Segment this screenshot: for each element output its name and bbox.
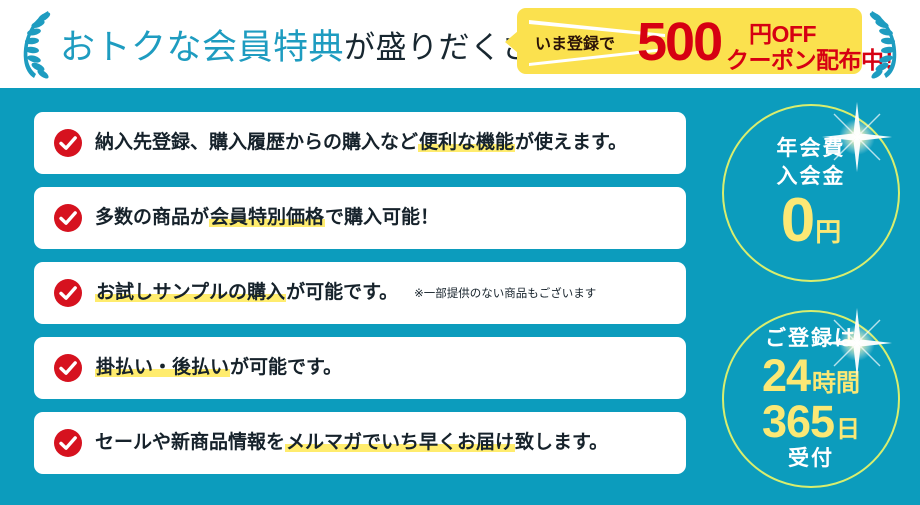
feature-text-2: 多数の商品が会員特別価格で購入可能！: [95, 205, 439, 231]
coupon-register-label: いま登録で: [535, 30, 615, 54]
check-circle-icon: [53, 353, 83, 383]
feature-text-1: 納入先登録、購入履歴からの購入など便利な機能が使えます。: [95, 130, 627, 156]
badge-availability: ご登録は 24 時間 365 日 受付: [722, 310, 900, 488]
feature-card-5[interactable]: セールや新商品情報をメルマガでいち早くお届け致します。: [34, 412, 686, 474]
check-circle-icon: [53, 128, 83, 158]
badge2-row-hours: 24 時間: [762, 353, 860, 399]
laurel-right-icon: [858, 8, 906, 80]
badge2-line-last: 受付: [788, 445, 834, 473]
badge-unit: 円: [815, 212, 841, 249]
badge2-row-days: 365 日: [762, 399, 860, 445]
badge2-num-1: 24: [762, 353, 810, 399]
check-circle-icon: [53, 203, 83, 233]
feature-card-1[interactable]: 納入先登録、購入履歴からの購入など便利な機能が使えます。: [34, 112, 686, 174]
feature-note-3: ※一部提供のない商品もございます: [414, 285, 596, 301]
feature-text-3: お試しサンプルの購入が可能です。: [95, 280, 398, 306]
badge-line-1: 年会費: [777, 135, 846, 163]
feature-text-tail: が可能です。: [286, 282, 398, 303]
feature-card-2[interactable]: 多数の商品が会員特別価格で購入可能！: [34, 187, 686, 249]
badge2-unit-1: 時間: [812, 363, 860, 398]
membership-benefits-banner: おトクな会員特典 が盛りだくさん！ いま登録で 500 円OFF クーポン配布中…: [0, 0, 920, 505]
feature-text-4: 掛払い・後払いが可能です。: [95, 355, 342, 381]
feature-card-3[interactable]: お試しサンプルの購入が可能です。 ※一部提供のない商品もございます: [34, 262, 686, 324]
badge-value: 0: [781, 191, 813, 251]
badge-annual-fee: 年会費 入会金 0 円: [722, 104, 900, 282]
banner-header: おトクな会員特典 が盛りだくさん！ いま登録で 500 円OFF クーポン配布中…: [0, 0, 920, 88]
feature-text-highlight: 会員特別価格: [209, 207, 325, 228]
coupon-badge[interactable]: いま登録で 500 円OFF クーポン配布中！: [517, 8, 862, 74]
badge-value-row: 0 円: [781, 191, 842, 251]
feature-text-5: セールや新商品情報をメルマガでいち早くお届け致します。: [95, 430, 608, 456]
feature-text-tail: 致します。: [515, 432, 608, 453]
badge2-num-2: 365: [762, 399, 834, 445]
feature-text-tail: で購入可能！: [325, 207, 439, 228]
laurel-left-icon: [14, 8, 62, 80]
feature-text-highlight: 掛払い・後払い: [95, 357, 230, 378]
feature-text-highlight: お試しサンプルの購入: [95, 282, 286, 303]
badge2-line-1: ご登録は: [765, 325, 857, 353]
feature-text-highlight: 便利な機能: [418, 132, 515, 153]
headline-teal-text: おトクな会員特典: [60, 19, 344, 70]
feature-text-plain: セールや新商品情報を: [95, 432, 285, 453]
coupon-amount: 500: [637, 11, 721, 73]
feature-card-4[interactable]: 掛払い・後払いが可能です。: [34, 337, 686, 399]
check-circle-icon: [53, 278, 83, 308]
feature-text-tail: が可能です。: [230, 357, 342, 378]
badge2-unit-2: 日: [836, 409, 860, 444]
check-circle-icon: [53, 428, 83, 458]
feature-text-tail: が使えます。: [515, 132, 627, 153]
feature-text-highlight: メルマガでいち早くお届け: [285, 432, 515, 453]
feature-text-plain: 納入先登録、購入履歴からの購入など: [95, 132, 418, 153]
feature-text-plain: 多数の商品が: [95, 207, 209, 228]
